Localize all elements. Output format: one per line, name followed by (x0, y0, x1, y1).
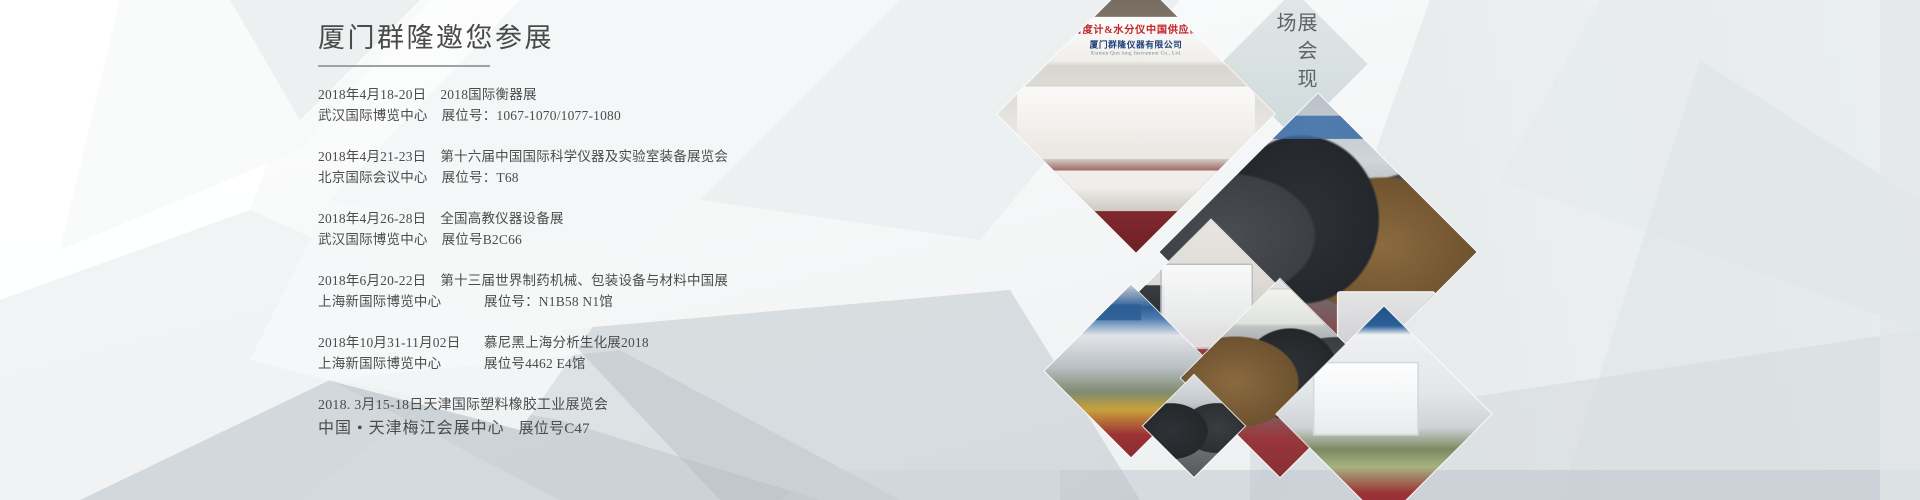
event-row-bottom: 上海新国际博览中心 展位号：N1B58 N1馆 (318, 291, 1078, 312)
event-row-bottom: 中国 • 天津梅江会展中心 展位号C47 (318, 417, 1078, 441)
event-venue: 上海新国际博览中心 (318, 291, 470, 312)
event-venue: 武汉国际博览中心 (318, 105, 428, 126)
event-booth: 展位号：T68 (442, 167, 519, 188)
event-name: 2018国际衡器展 (440, 84, 536, 105)
event-item[interactable]: 2018年4月26-28日 全国高教仪器设备展 武汉国际博览中心 展位号B2C6… (318, 208, 1078, 250)
event-row-top: 2018年4月26-28日 全国高教仪器设备展 (318, 208, 1078, 229)
event-row-bottom: 武汉国际博览中心 展位号：1067-1070/1077-1080 (318, 105, 1078, 126)
event-date-and-name: 2018. 3月15-18日天津国际塑料橡胶工业展览会 (318, 394, 608, 417)
event-date: 2018年4月26-28日 (318, 208, 426, 229)
event-name: 全国高教仪器设备展 (440, 208, 563, 229)
event-list: 2018年4月18-20日 2018国际衡器展 武汉国际博览中心 展位号：106… (318, 84, 1078, 441)
event-date: 2018年10月31-11月02日 (318, 332, 470, 353)
event-row-top: 2018年4月21-23日 第十六届中国国际科学仪器及实验室装备展览会 (318, 146, 1078, 167)
event-booth: 展位号C47 (519, 418, 590, 441)
event-row-top: 2018年10月31-11月02日 慕尼黑上海分析生化展2018 (318, 332, 1078, 353)
event-name: 第十六届中国国际科学仪器及实验室装备展览会 (440, 146, 728, 167)
event-venue: 武汉国际博览中心 (318, 229, 428, 250)
page-title: 厦门群隆邀您参展 (318, 22, 1078, 63)
event-date: 2018年4月18-20日 (318, 84, 426, 105)
event-list-panel: 厦门群隆邀您参展 2018年4月18-20日 2018国际衡器展 武汉国际博览中… (318, 22, 1078, 492)
booth-banner-line1: 密度计&水分仪中国供应商 (1072, 22, 1201, 37)
photo-collage: 展会现场 密度计&水分仪中国供应商 厦门群隆仪器有限公司 Xiamen Qun … (1010, 0, 1490, 500)
event-item[interactable]: 2018年10月31-11月02日 慕尼黑上海分析生化展2018 上海新国际博览… (318, 332, 1078, 374)
booth-banner-line2: 厦门群隆仪器有限公司 (1090, 36, 1183, 49)
event-venue: 北京国际会议中心 (318, 167, 428, 188)
event-row-top: 2018年4月18-20日 2018国际衡器展 (318, 84, 1078, 105)
event-item[interactable]: 2018. 3月15-18日天津国际塑料橡胶工业展览会 中国 • 天津梅江会展中… (318, 394, 1078, 441)
title-underline (318, 65, 490, 67)
event-venue: 中国 • 天津梅江会展中心 (318, 417, 505, 440)
event-date: 2018年4月21-23日 (318, 146, 426, 167)
event-row-bottom: 武汉国际博览中心 展位号B2C66 (318, 229, 1078, 250)
event-row-top: 2018年6月20-22日 第十三届世界制药机械、包装设备与材料中国展 (318, 270, 1078, 291)
event-item[interactable]: 2018年6月20-22日 第十三届世界制药机械、包装设备与材料中国展 上海新国… (318, 270, 1078, 312)
exhibition-banner: 厦门群隆邀您参展 2018年4月18-20日 2018国际衡器展 武汉国际博览中… (0, 0, 1920, 500)
event-row-bottom: 上海新国际博览中心 展位号4462 E4馆 (318, 353, 1078, 374)
event-name: 慕尼黑上海分析生化展2018 (484, 332, 649, 353)
event-booth: 展位号4462 E4馆 (484, 353, 586, 374)
event-booth: 展位号：1067-1070/1077-1080 (442, 105, 621, 126)
booth2-logo: SmaRT (1445, 326, 1477, 335)
event-row-bottom: 北京国际会议中心 展位号：T68 (318, 167, 1078, 188)
event-item[interactable]: 2018年4月18-20日 2018国际衡器展 武汉国际博览中心 展位号：106… (318, 84, 1078, 126)
event-booth: 展位号B2C66 (442, 229, 522, 250)
event-row-top: 2018. 3月15-18日天津国际塑料橡胶工业展览会 (318, 394, 1078, 417)
booth-banner-line3: Xiamen Qun long Instrument Co., Ltd. (1090, 50, 1182, 56)
booth2-board (1313, 361, 1419, 436)
event-item[interactable]: 2018年4月21-23日 第十六届中国国际科学仪器及实验室装备展览会 北京国际… (318, 146, 1078, 188)
event-booth: 展位号：N1B58 N1馆 (484, 291, 613, 312)
event-name: 第十三届世界制药机械、包装设备与材料中国展 (440, 270, 728, 291)
event-venue: 上海新国际博览中心 (318, 353, 470, 374)
event-date: 2018年6月20-22日 (318, 270, 426, 291)
collage-vertical-label: 展会现场 (1273, 12, 1315, 116)
